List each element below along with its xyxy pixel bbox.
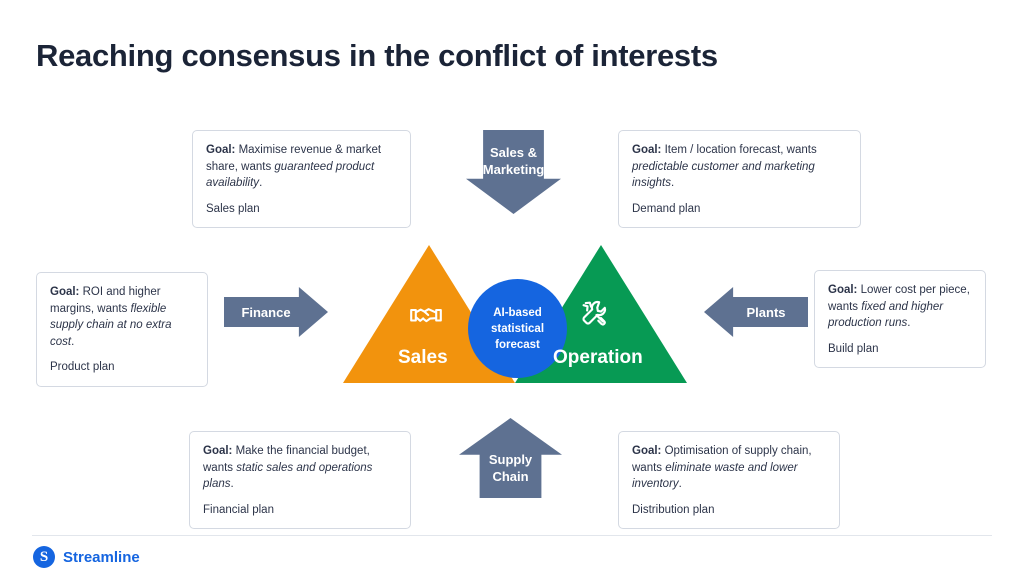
arrow-down-sales-marketing: Sales & Marketing <box>466 130 561 214</box>
goal-label: Goal: <box>203 445 232 457</box>
brand-name: Streamline <box>63 549 140 566</box>
goal-card-build-plan: Goal: Lower cost per piece, wants fixed … <box>814 270 986 368</box>
goal-period: . <box>907 317 910 329</box>
streamline-logo-icon: S <box>33 546 55 568</box>
goal-period: . <box>671 177 674 189</box>
goal-label: Goal: <box>50 286 79 298</box>
goal-text: Goal: Lower cost per piece, wants fixed … <box>828 282 972 332</box>
goal-card-financial-plan: Goal: Make the financial budget, wants s… <box>189 431 411 529</box>
goal-text: Goal: Item / location forecast, wants pr… <box>632 142 847 192</box>
center-diagram: AI-based statistical forecast Sales Oper… <box>340 240 692 388</box>
goal-text: Goal: Maximise revenue & market share, w… <box>206 142 397 192</box>
goal-label: Goal: <box>632 144 661 156</box>
arrow-label: Finance <box>241 304 290 321</box>
goal-period: . <box>259 177 262 189</box>
triangle-label-sales: Sales <box>398 347 448 369</box>
arrow-label: Plants <box>746 304 785 321</box>
plan-name: Distribution plan <box>632 502 826 519</box>
plan-name: Build plan <box>828 341 972 358</box>
goal-text: Goal: ROI and higher margins, wants flex… <box>50 284 194 350</box>
goal-period: . <box>679 478 682 490</box>
goal-body: Item / location forecast, wants <box>661 144 816 156</box>
goal-card-sales-plan: Goal: Maximise revenue & market share, w… <box>192 130 411 228</box>
goal-emphasis: predictable customer and marketing insig… <box>632 161 815 190</box>
center-circle-label: AI-based statistical forecast <box>491 305 544 353</box>
goal-card-distribution-plan: Goal: Optimisation of supply chain, want… <box>618 431 840 529</box>
triangle-label-operation: Operation <box>553 347 643 369</box>
plan-name: Demand plan <box>632 201 847 218</box>
brand-logo: S Streamline <box>33 546 140 568</box>
arrow-label: Supply Chain <box>489 451 532 485</box>
tools-icon <box>579 298 609 328</box>
goal-card-demand-plan: Goal: Item / location forecast, wants pr… <box>618 130 861 228</box>
plan-name: Financial plan <box>203 502 397 519</box>
goal-text: Goal: Optimisation of supply chain, want… <box>632 443 826 493</box>
goal-text: Goal: Make the financial budget, wants s… <box>203 443 397 493</box>
footer-divider <box>32 535 992 536</box>
arrow-right-finance: Finance <box>224 287 328 337</box>
goal-label: Goal: <box>632 445 661 457</box>
goal-period: . <box>71 336 74 348</box>
page-title: Reaching consensus in the conflict of in… <box>36 38 718 74</box>
goal-card-product-plan: Goal: ROI and higher margins, wants flex… <box>36 272 208 387</box>
arrow-up-supply-chain: Supply Chain <box>459 418 562 498</box>
goal-label: Goal: <box>828 284 857 296</box>
handshake-icon <box>410 303 440 333</box>
goal-period: . <box>231 478 234 490</box>
arrow-left-plants: Plants <box>704 287 808 337</box>
plan-name: Sales plan <box>206 201 397 218</box>
goal-label: Goal: <box>206 144 235 156</box>
arrow-label: Sales & Marketing <box>483 144 544 178</box>
plan-name: Product plan <box>50 359 194 376</box>
